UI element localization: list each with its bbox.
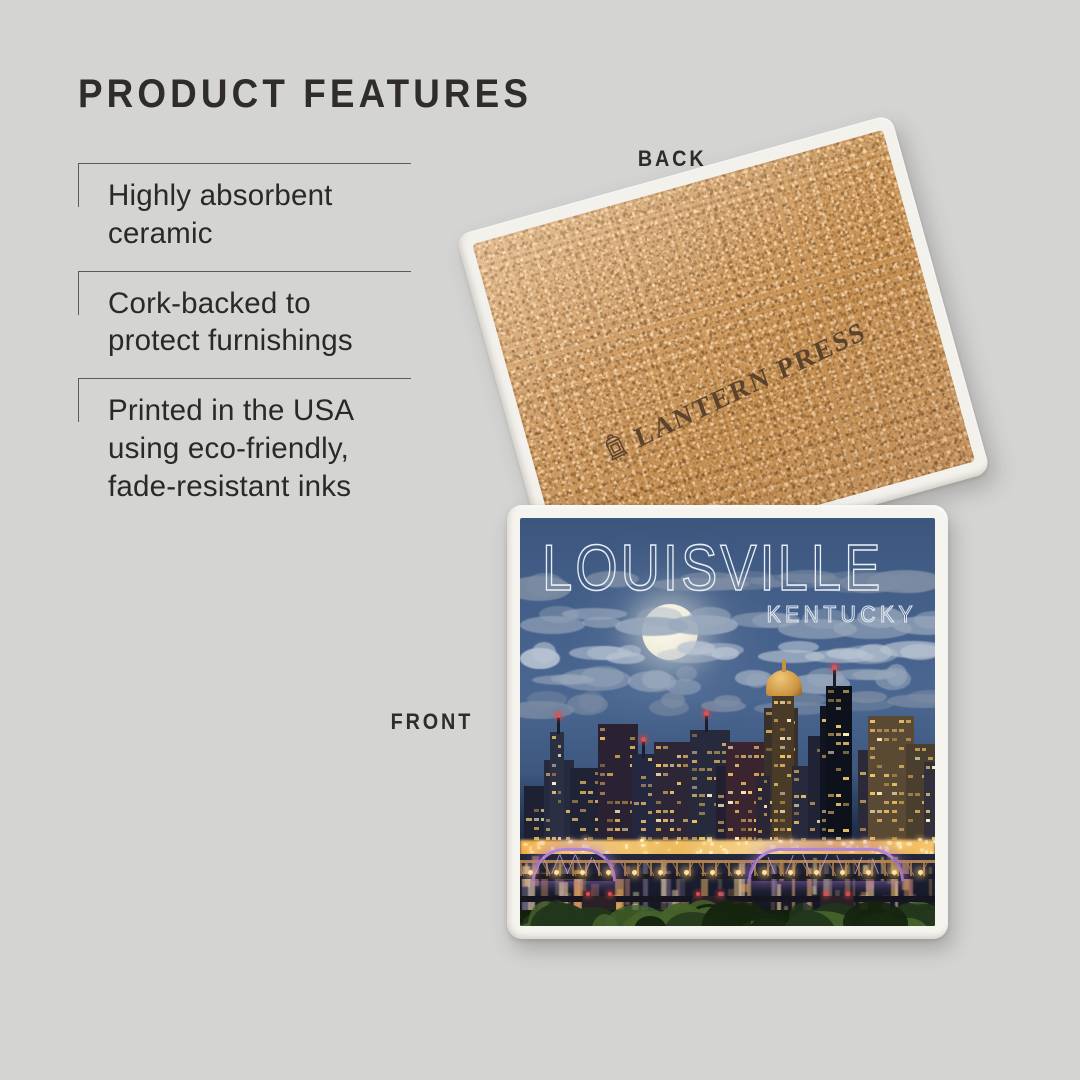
feature-text: Cork-backed to protect furnishings [108,285,450,361]
front-label: FRONT [391,709,474,735]
brand-mark: LANTERN PRESS [597,314,873,470]
feature-divider [78,163,411,164]
feature-divider [78,378,411,379]
coaster-front: LOUISVILLE KENTUCKY [507,505,948,939]
feature-text: Highly absorbent ceramic [108,177,450,253]
feature-tick [78,378,79,422]
artwork-title: LOUISVILLE [542,530,883,606]
tree [843,901,908,926]
artwork-louisville-skyline: LOUISVILLE KENTUCKY [520,518,935,926]
artwork-subtitle: KENTUCKY [767,602,917,628]
feature-item: Printed in the USA using eco-friendly, f… [78,378,450,523]
feature-item: Cork-backed to protect furnishings [78,271,450,379]
page-title: PRODUCT FEATURES [78,72,420,117]
feature-text: Printed in the USA using eco-friendly, f… [108,392,450,505]
feature-divider [78,271,411,272]
lantern-icon [597,428,636,471]
brand-name: LANTERN PRESS [631,315,871,454]
product-feature-graphic: PRODUCT FEATURES Highly absorbent cerami… [0,0,1080,1080]
feature-item: Highly absorbent ceramic [78,163,450,271]
feature-tick [78,271,79,315]
feature-tick [78,163,79,207]
product-features-panel: PRODUCT FEATURES Highly absorbent cerami… [78,72,450,523]
